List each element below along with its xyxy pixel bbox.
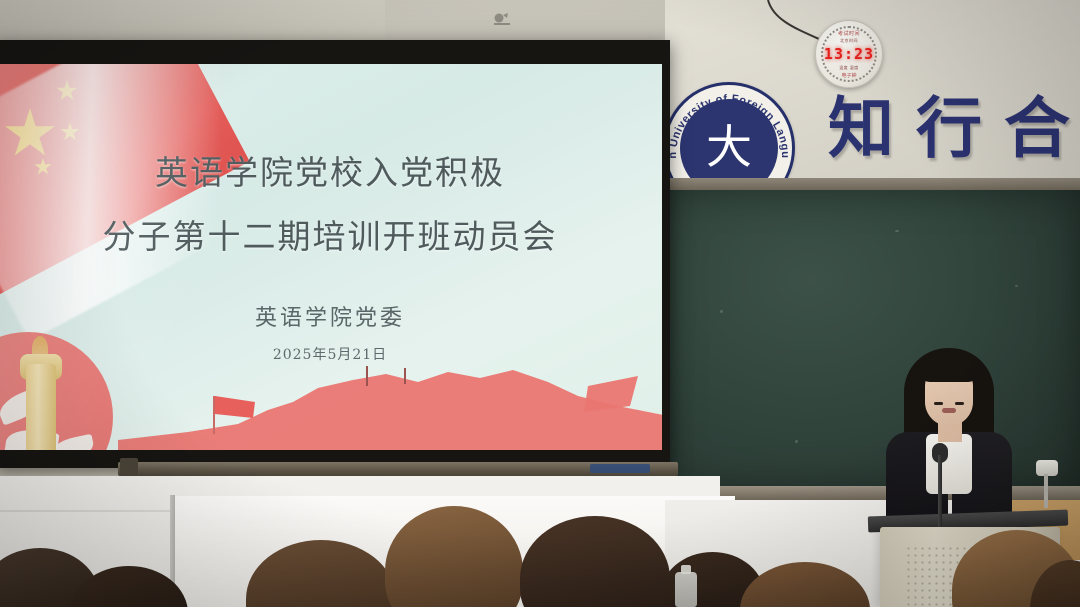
presenter-shirt	[926, 434, 972, 494]
projector-screen-frame: 英语学院党校入党积极 分子第十二期培训开班动员会 英语学院党委 2025年5月2…	[0, 40, 670, 468]
clock-label-sub: 北京时间	[840, 38, 858, 44]
slide-organization: 英语学院党委	[255, 300, 405, 332]
projector-screen: 英语学院党校入党积极 分子第十二期培训开班动员会 英语学院党委 2025年5月2…	[0, 64, 662, 450]
microphone-stem	[938, 455, 942, 527]
clock-label-bottom: 温度 湿度	[839, 65, 859, 71]
chalk-rail-item	[590, 464, 650, 473]
clock-label-bottom2: 电子钟	[841, 72, 856, 79]
presenter-hair-front	[920, 354, 978, 382]
wall-clock: 考试时间 北京时间 13:23 温度 湿度 电子钟	[815, 20, 883, 88]
seal-arc-label: n University of Foreign Langu	[667, 93, 791, 159]
slogan-char-2: 行	[916, 96, 982, 162]
slide-date: 2025年5月21日	[273, 344, 387, 364]
slogan-char-3: 合	[1004, 96, 1070, 162]
presenter-mouth	[942, 408, 956, 413]
classroom-scene: 考试时间 北京时间 13:23 温度 湿度 电子钟 大 n University…	[0, 0, 1080, 607]
housing-logo-icon	[490, 12, 514, 28]
slide-title-line2: 分子第十二期培训开班动员会	[103, 210, 558, 258]
clock-time-display: 13:23	[824, 45, 874, 63]
presenter-eye-right	[955, 402, 964, 405]
slogan-char-1: 知	[828, 96, 894, 162]
clock-label-top: 考试时间	[838, 30, 860, 37]
water-bottle	[675, 572, 697, 607]
slide-title-line1: 英语学院党校入党积极	[155, 146, 505, 194]
svg-text:n University of Foreign Langu: n University of Foreign Langu	[667, 93, 791, 159]
desk-lamp-stem	[1044, 474, 1048, 508]
slide-text-block: 英语学院党校入党积极 分子第十二期培训开班动员会 英语学院党委 2025年5月2…	[0, 64, 662, 450]
chalk-rail-end-cap	[120, 458, 138, 478]
blackboard-top-trim	[665, 178, 1080, 190]
wall-slogan: 知 行 合	[828, 96, 1070, 162]
clock-face: 考试时间 北京时间 13:23 温度 湿度 电子钟	[816, 21, 882, 87]
presenter-eye-left	[934, 402, 943, 405]
